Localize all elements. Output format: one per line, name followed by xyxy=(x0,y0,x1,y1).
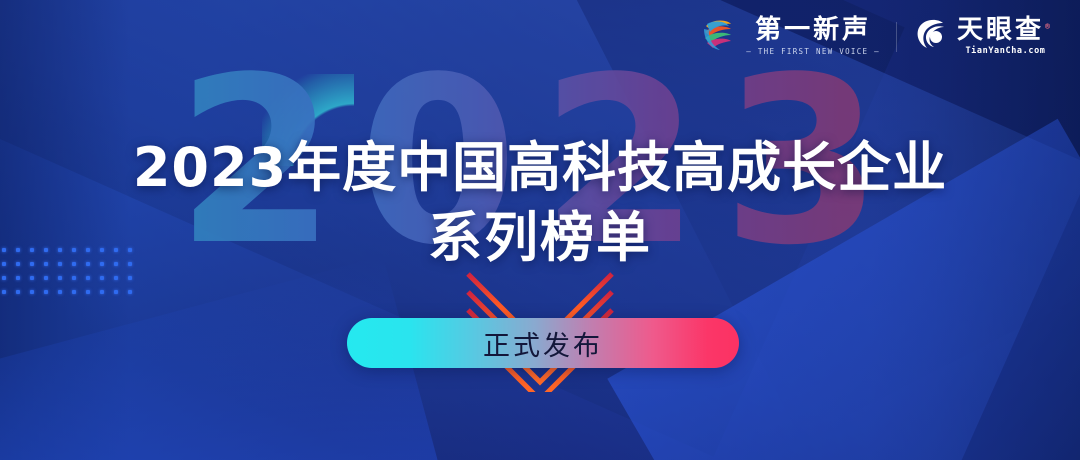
grid-dot xyxy=(2,276,6,280)
grid-dot xyxy=(44,276,48,280)
grid-dot xyxy=(86,290,90,294)
grid-dot xyxy=(2,262,6,266)
grid-dot xyxy=(16,276,20,280)
tianyancha-text: 天眼查® TianYanCha.com xyxy=(957,17,1054,56)
grid-dot xyxy=(2,248,6,252)
headline: 2023年度中国高科技高成长企业 系列榜单 xyxy=(0,136,1080,270)
grid-dot xyxy=(86,276,90,280)
registered-trademark-icon: ® xyxy=(1044,22,1054,30)
diyixinsheng-text: 第一新声 — THE FIRST NEW VOICE — xyxy=(746,17,880,56)
logo-diyixinsheng[interactable]: 第一新声 — THE FIRST NEW VOICE — xyxy=(698,14,880,59)
grid-dot xyxy=(16,262,20,266)
grid-dot xyxy=(58,276,62,280)
grid-dot xyxy=(44,248,48,252)
grid-dot xyxy=(114,262,118,266)
grid-dot xyxy=(100,262,104,266)
grid-dot xyxy=(100,290,104,294)
grid-dot xyxy=(30,262,34,266)
grid-dot xyxy=(58,262,62,266)
grid-dot xyxy=(30,248,34,252)
grid-dot xyxy=(100,248,104,252)
grid-dot xyxy=(128,290,132,294)
grid-dot xyxy=(44,290,48,294)
logo-tianyancha[interactable]: 天眼查® TianYanCha.com xyxy=(913,16,1054,57)
headline-line-2: 系列榜单 xyxy=(0,206,1080,270)
grid-dot xyxy=(30,290,34,294)
dot-grid-decoration xyxy=(2,248,144,310)
tianyancha-name-cn: 天眼查® xyxy=(957,17,1054,44)
grid-dot xyxy=(16,290,20,294)
logo-group: 第一新声 — THE FIRST NEW VOICE — 天眼查® TianYa… xyxy=(698,14,1054,59)
grid-dot xyxy=(86,248,90,252)
grid-dot xyxy=(114,276,118,280)
logo-divider xyxy=(896,22,897,52)
tianyancha-domain: TianYanCha.com xyxy=(965,46,1045,56)
headline-line-1: 2023年度中国高科技高成长企业 xyxy=(0,136,1080,200)
grid-dot xyxy=(72,290,76,294)
diyixinsheng-name-cn: 第一新声 xyxy=(755,17,871,44)
grid-dot xyxy=(128,276,132,280)
grid-dot xyxy=(58,248,62,252)
grid-dot xyxy=(114,290,118,294)
grid-dot xyxy=(16,248,20,252)
grid-dot xyxy=(128,248,132,252)
grid-dot xyxy=(86,262,90,266)
diyixinsheng-mark-icon xyxy=(698,14,738,59)
grid-dot xyxy=(2,290,6,294)
diyixinsheng-name-en: — THE FIRST NEW VOICE — xyxy=(746,47,880,56)
grid-dot xyxy=(128,262,132,266)
grid-dot xyxy=(72,262,76,266)
grid-dot xyxy=(72,276,76,280)
release-badge[interactable]: 正式发布 xyxy=(347,318,739,368)
grid-dot xyxy=(58,290,62,294)
grid-dot xyxy=(72,248,76,252)
tianyancha-name-cn-text: 天眼查 xyxy=(957,15,1044,45)
poster-banner: 2023 2023年度中国高科技高成长企业 系列榜单 正式发布 xyxy=(0,0,1080,460)
grid-dot xyxy=(30,276,34,280)
release-badge-label: 正式发布 xyxy=(483,324,603,363)
tianyancha-eye-icon xyxy=(913,16,949,57)
grid-dot xyxy=(100,276,104,280)
grid-dot xyxy=(114,248,118,252)
grid-dot xyxy=(44,262,48,266)
